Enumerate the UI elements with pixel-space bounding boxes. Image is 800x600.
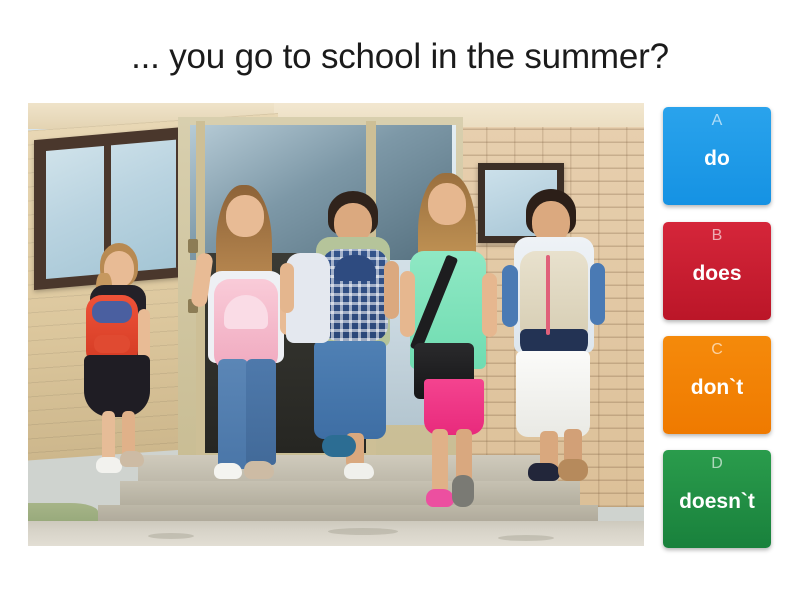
answer-text-a: do: [663, 107, 771, 205]
answer-text-d: doesn`t: [663, 450, 771, 548]
pavement-texture: [498, 535, 554, 541]
answer-text-b: does: [663, 222, 771, 320]
answer-options-list: A do B does C don`t D doesn`t: [663, 107, 771, 548]
answer-tile-b[interactable]: B does: [663, 222, 771, 320]
answer-tile-d[interactable]: D doesn`t: [663, 450, 771, 548]
question-image: [28, 103, 644, 546]
answer-text-c: don`t: [663, 336, 771, 434]
school-scene-illustration: [28, 103, 644, 546]
door-hinge-icon: [188, 239, 198, 253]
pavement-texture: [328, 528, 398, 535]
answer-tile-a[interactable]: A do: [663, 107, 771, 205]
pavement-texture: [148, 533, 194, 539]
answer-tile-c[interactable]: C don`t: [663, 336, 771, 434]
question-title: ... you go to school in the summer?: [0, 36, 800, 78]
step-middle: [120, 481, 580, 507]
